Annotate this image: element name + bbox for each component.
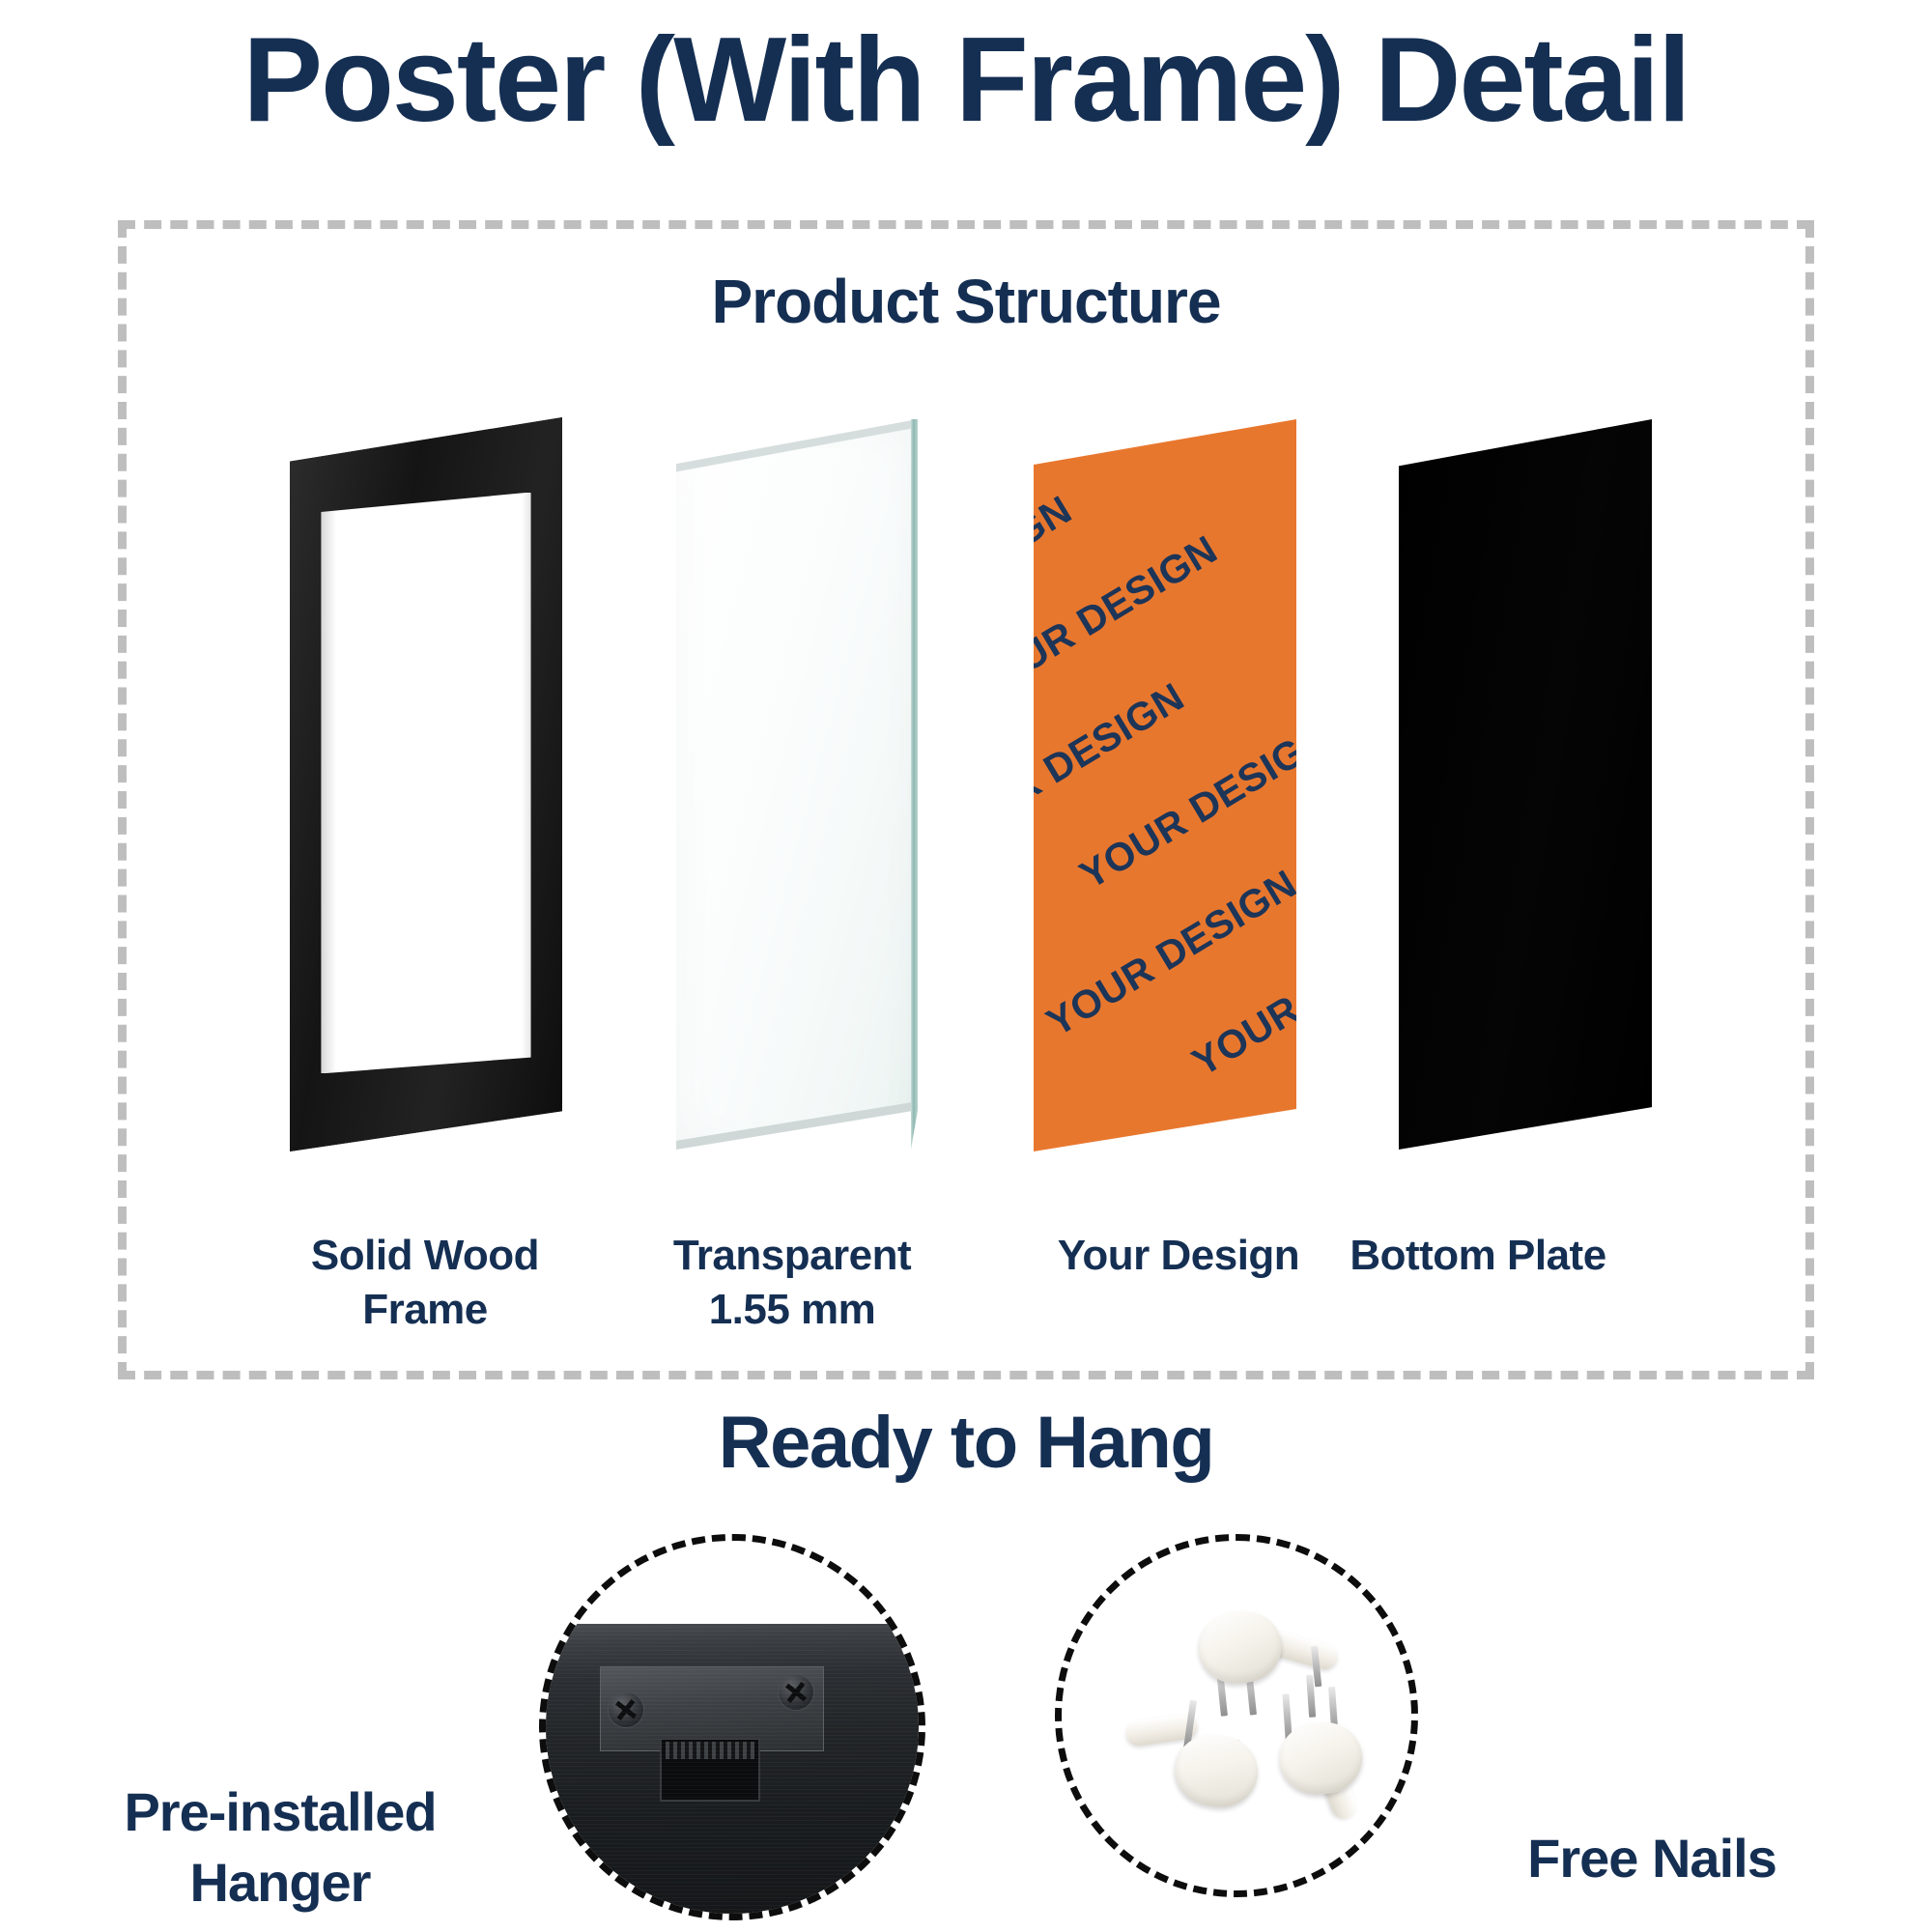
hanger-bracket (600, 1666, 824, 1751)
caption-line-2: 1.55 mm (570, 1283, 1014, 1337)
solid-wood-frame-illustration (290, 417, 562, 1151)
caption-line-1: Free Nails (1430, 1824, 1874, 1894)
hook-disc (1195, 1607, 1285, 1688)
caption-free-nails: Free Nails (1430, 1824, 1874, 1894)
caption-transparent-glass: Transparent 1.55 mm (570, 1229, 1014, 1338)
frame-back-surface (544, 1624, 925, 1920)
caption-bottom-plate: Bottom Plate (1256, 1229, 1700, 1283)
caption-pre-installed-hanger: Pre-installed Hanger (58, 1777, 502, 1918)
product-structure-heading: Product Structure (0, 266, 1932, 337)
design-sheet: YOUR DESIGN YOUR DESIGN YOUR DESIGN YOUR… (1034, 419, 1296, 1151)
page-title: Poster (With Frame) Detail (0, 14, 1932, 148)
free-nails-photo (1055, 1534, 1418, 1897)
frame-inner-shadow (321, 493, 530, 1074)
ready-to-hang-heading: Ready to Hang (0, 1401, 1932, 1485)
pre-installed-hanger-photo (539, 1534, 925, 1920)
transparent-glass-illustration (676, 419, 918, 1150)
caption-line-2: Hanger (58, 1848, 502, 1918)
caption-line-1: Pre-installed (58, 1777, 502, 1848)
caption-line-1: Bottom Plate (1256, 1229, 1700, 1283)
caption-line-1: Transparent (570, 1229, 1014, 1283)
screw-icon (608, 1691, 644, 1728)
your-design-illustration: YOUR DESIGN YOUR DESIGN YOUR DESIGN YOUR… (1034, 419, 1296, 1151)
hanger-slot (660, 1738, 760, 1802)
bottom-plate-board (1399, 419, 1652, 1150)
glass-pane (676, 419, 918, 1150)
design-watermark-pattern: YOUR DESIGN YOUR DESIGN YOUR DESIGN YOUR… (1034, 419, 1296, 1151)
screw-icon (778, 1674, 814, 1711)
glass-right-edge-highlight (911, 419, 918, 1150)
bottom-plate-illustration (1399, 419, 1652, 1150)
